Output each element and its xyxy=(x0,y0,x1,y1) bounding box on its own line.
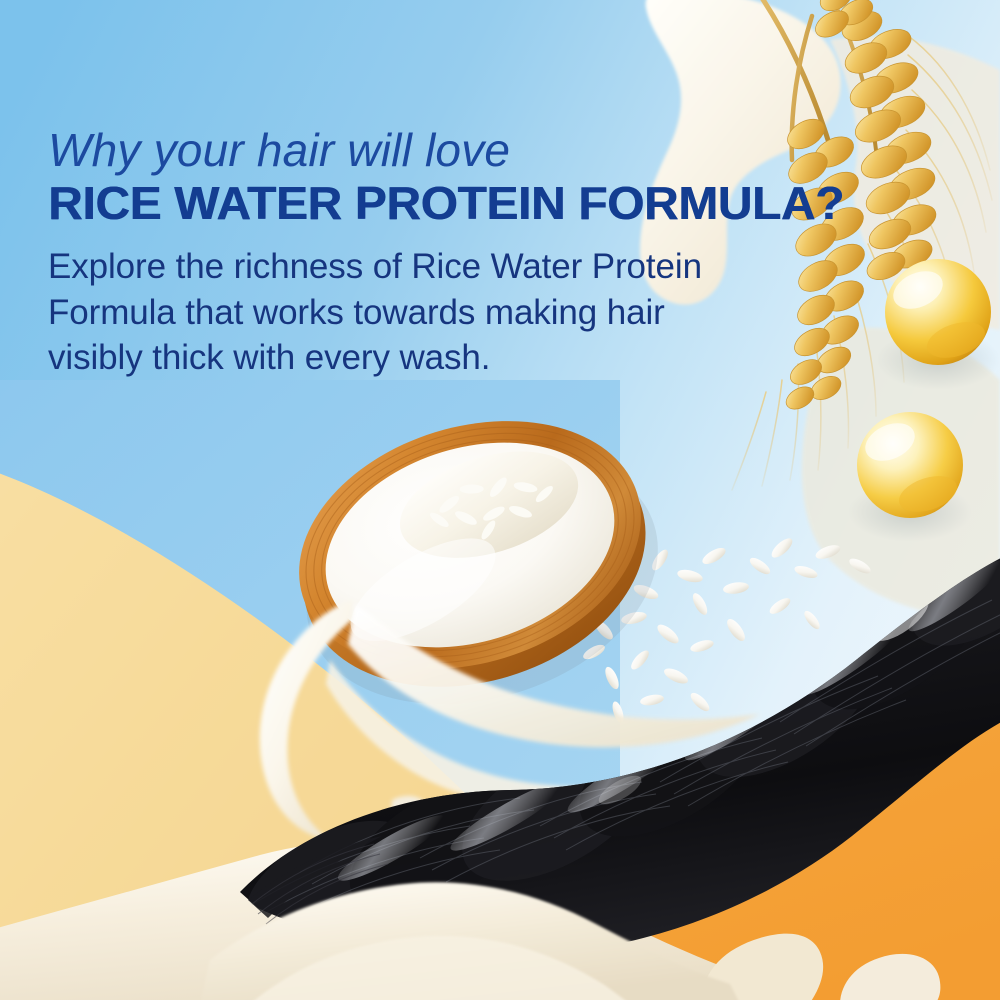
page-title: RICE WATER PROTEIN FORMULA? xyxy=(48,179,838,229)
headline-script: Why your hair will love xyxy=(48,126,808,175)
body-copy: Explore the richness of Rice Water Prote… xyxy=(48,244,808,381)
product-banner: Why your hair will love RICE WATER PROTE… xyxy=(0,0,1000,1000)
body-line-3: visibly thick with every wash. xyxy=(48,335,808,381)
text-block: Why your hair will love RICE WATER PROTE… xyxy=(48,126,808,381)
body-line-1: Explore the richness of Rice Water Prote… xyxy=(48,244,808,290)
body-line-2: Formula that works towards making hair xyxy=(48,290,808,336)
